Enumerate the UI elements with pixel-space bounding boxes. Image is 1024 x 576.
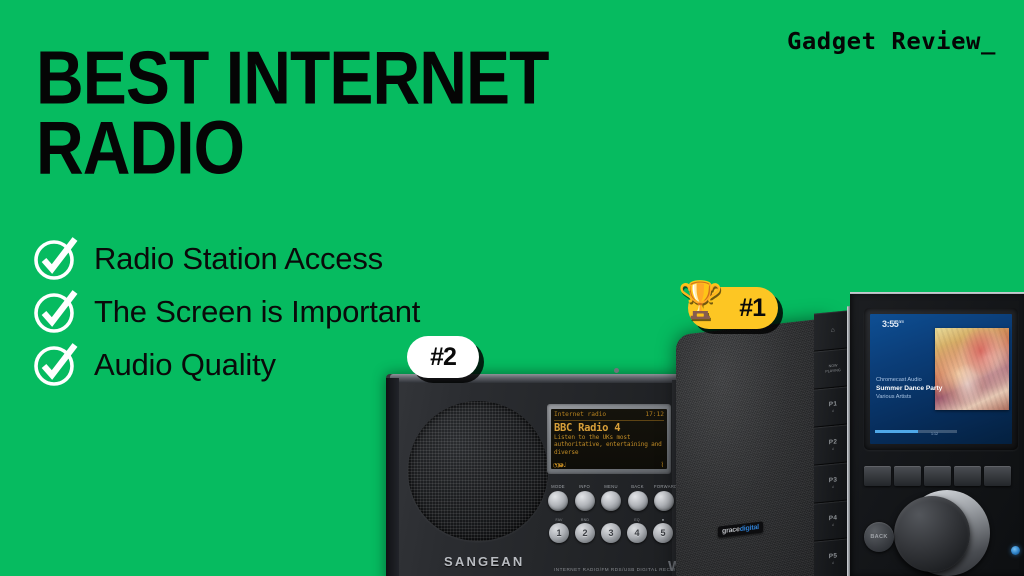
radio-two-screw bbox=[614, 368, 619, 373]
trophy-icon: 🏆 bbox=[678, 282, 723, 318]
page-title-line-2: RADIO bbox=[36, 114, 557, 184]
page-title: BEST INTERNET RADIO bbox=[36, 44, 557, 184]
button-sub-label: ♫ bbox=[832, 408, 835, 412]
list-item-label: Radio Station Access bbox=[94, 241, 383, 277]
list-item-label: Audio Quality bbox=[94, 347, 276, 383]
rank-badge-two: #2 bbox=[407, 336, 479, 378]
radio-two-lcd-screen: Internet radio 17:12 BBC Radio 4 Listen … bbox=[551, 409, 667, 469]
screen-clock: 3:55am bbox=[882, 319, 904, 329]
button-sub-label: ♫ bbox=[832, 522, 835, 526]
preset-number[interactable]: 5 bbox=[653, 523, 673, 543]
button-label: FORWARD bbox=[654, 484, 674, 489]
radio-two-display-bezel: Internet radio 17:12 BBC Radio 4 Listen … bbox=[547, 404, 671, 474]
lcd-station-name: BBC Radio 4 bbox=[554, 422, 664, 434]
radio-two-preset-3[interactable]: 3 bbox=[601, 518, 621, 543]
radio-two-button-menu[interactable]: MENU bbox=[601, 484, 621, 511]
radio-one-front-panel: 3:55am Chromecast Audio Summer Dance Par… bbox=[850, 294, 1024, 576]
preset-number[interactable]: 4 bbox=[627, 523, 647, 543]
radio-two-model-fine-print: INTERNET RADIO/FM RDS/USB DIGITAL RECEIV… bbox=[554, 567, 687, 572]
radio-one-soft-key-4[interactable] bbox=[954, 466, 981, 486]
list-item: Radio Station Access bbox=[30, 232, 420, 285]
list-item: Audio Quality bbox=[30, 338, 420, 391]
preset-number[interactable]: 3 bbox=[601, 523, 621, 543]
status-led-indicator bbox=[1011, 546, 1020, 555]
radio-one-soft-key-3[interactable] bbox=[924, 466, 951, 486]
site-logo: Gadget Review_ bbox=[787, 29, 996, 55]
button-label-line-2: PLAYING bbox=[825, 368, 840, 373]
check-circle-icon bbox=[30, 340, 80, 390]
radio-one-display-bezel: 3:55am Chromecast Audio Summer Dance Par… bbox=[864, 308, 1018, 450]
button-label: P5 bbox=[829, 552, 837, 560]
elapsed-time: 1:12 bbox=[931, 432, 938, 436]
button-label: P4 bbox=[829, 514, 837, 522]
radio-one-soft-key-2[interactable] bbox=[894, 466, 921, 486]
button-sub-label: ♫ bbox=[832, 446, 835, 450]
button-label: BACK bbox=[628, 484, 648, 489]
lcd-clock: 17:12 bbox=[645, 411, 664, 419]
list-item: The Screen is Important bbox=[30, 285, 420, 338]
radio-two-preset-2[interactable]: RND 2 bbox=[575, 518, 595, 543]
radio-two-button-forward[interactable]: FORWARD bbox=[654, 484, 674, 511]
radio-one-rotary-knob[interactable] bbox=[894, 496, 970, 572]
button-cap[interactable] bbox=[654, 491, 674, 511]
radio-two-speaker-grille bbox=[408, 401, 548, 541]
playback-source: Chromecast Audio bbox=[876, 376, 958, 384]
artist-name: Various Artists bbox=[876, 393, 958, 401]
radio-two-preset-button-row: FAV 1 RND 2 3 EQ 4 ■ 5 bbox=[549, 518, 673, 543]
lcd-status-icons: ◔◑◕♩ bbox=[553, 461, 566, 469]
screen-clock-time: 3:55 bbox=[882, 319, 898, 329]
playback-progress-bar[interactable] bbox=[875, 430, 957, 433]
radio-one-soft-key-1[interactable] bbox=[864, 466, 891, 486]
brand-logo-part-two: digital bbox=[740, 524, 759, 533]
radio-two-preset-5[interactable]: ■ 5 bbox=[653, 518, 673, 543]
button-label: P2 bbox=[829, 438, 837, 446]
check-circle-icon bbox=[30, 287, 80, 337]
radio-two-function-button-row: MODE INFO MENU BACK FORWARD bbox=[548, 484, 674, 511]
radio-one-soft-key-5[interactable] bbox=[984, 466, 1011, 486]
radio-two-preset-4[interactable]: EQ 4 bbox=[627, 518, 647, 543]
button-cap[interactable] bbox=[548, 491, 568, 511]
product-image-rank-one: gracedigital ⌂ NOW PLAYING P1 ♫ P2 ♫ P3 … bbox=[676, 292, 1024, 576]
now-playing-metadata: Chromecast Audio Summer Dance Party Vari… bbox=[876, 376, 958, 401]
product-image-rank-two: SANGEAN Internet radio 17:12 BBC Radio 4… bbox=[386, 366, 716, 576]
button-label: MENU bbox=[601, 484, 621, 489]
feature-list: Radio Station Access The Screen is Impor… bbox=[30, 232, 420, 391]
button-sub-label: ♫ bbox=[832, 560, 835, 564]
radio-two-button-info[interactable]: INFO bbox=[575, 484, 595, 511]
rank-badge-two-label: #2 bbox=[430, 343, 456, 372]
check-circle-icon bbox=[30, 234, 80, 284]
page-title-line-1: BEST INTERNET bbox=[36, 44, 557, 114]
radio-two-button-back[interactable]: BACK bbox=[628, 484, 648, 511]
preset-number[interactable]: 1 bbox=[549, 523, 569, 543]
lcd-signal-icon: ⌇ bbox=[661, 461, 664, 469]
radio-two-button-mode[interactable]: MODE bbox=[548, 484, 568, 511]
button-label: INFO bbox=[575, 484, 595, 489]
button-label: MODE bbox=[548, 484, 568, 489]
button-label: P3 bbox=[829, 476, 837, 484]
button-sub-label: ♫ bbox=[832, 484, 835, 488]
radio-one-color-screen: 3:55am Chromecast Audio Summer Dance Par… bbox=[870, 314, 1012, 444]
radio-one-soft-key-row bbox=[864, 466, 1011, 486]
rank-badge-one-label: #1 bbox=[739, 294, 765, 323]
radio-two-brand-label: SANGEAN bbox=[444, 554, 524, 569]
brand-logo-part-one: grace bbox=[722, 526, 740, 535]
thumbnail-canvas: Gadget Review_ BEST INTERNET RADIO Radio… bbox=[0, 0, 1024, 576]
radio-one-fabric-speaker bbox=[676, 318, 828, 576]
radio-two-preset-1[interactable]: FAV 1 bbox=[549, 518, 569, 543]
button-cap[interactable] bbox=[628, 491, 648, 511]
album-title: Summer Dance Party bbox=[876, 384, 958, 393]
list-item-label: The Screen is Important bbox=[94, 294, 420, 330]
progress-fill bbox=[875, 430, 918, 433]
home-icon: ⌂ bbox=[831, 327, 835, 334]
button-cap[interactable] bbox=[601, 491, 621, 511]
radio-one-back-button[interactable]: BACK bbox=[864, 522, 894, 552]
lcd-station-description: Listen to the UKs most authoritative, en… bbox=[554, 434, 664, 456]
lcd-mode-label: Internet radio bbox=[554, 411, 606, 419]
screen-clock-ampm: am bbox=[898, 319, 903, 324]
radio-two-side-edge bbox=[386, 378, 399, 576]
preset-number[interactable]: 2 bbox=[575, 523, 595, 543]
button-cap[interactable] bbox=[575, 491, 595, 511]
button-label: P1 bbox=[829, 400, 837, 408]
